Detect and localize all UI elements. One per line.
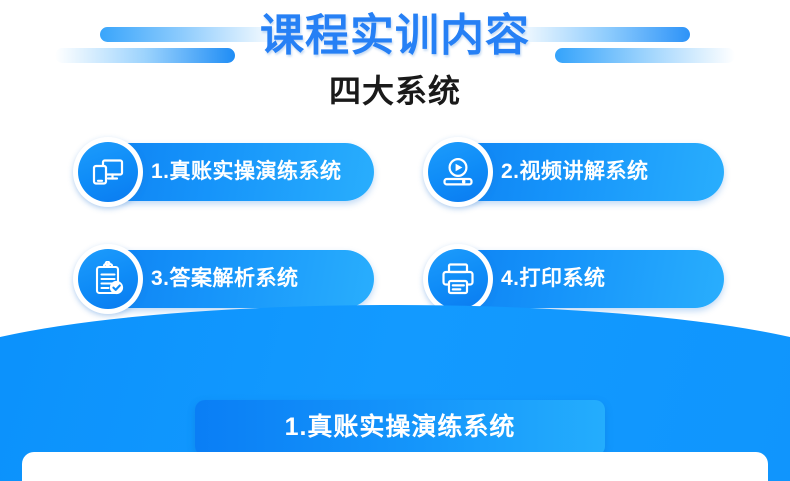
system-pill-3[interactable]: 3.答案解析系统 [78,250,374,308]
section-banner-label: 1.真账实操演练系统 [195,400,605,456]
system-pill-1[interactable]: 1.真账实操演练系统 [78,143,374,201]
system-pill-1-label: 1.真账实操演练系统 [151,143,342,201]
content-card [22,452,768,481]
system-pill-4-icon-frame [423,244,493,314]
system-pill-3-icon-frame [73,244,143,314]
page-subtitle: 四大系统 [0,72,790,110]
system-pill-4-label: 4.打印系统 [501,250,606,308]
system-pill-1-icon-frame [73,137,143,207]
system-pill-2-label: 2.视频讲解系统 [501,143,649,201]
clipboard-check-icon [78,249,138,309]
printer-icon [428,249,488,309]
system-pill-3-label: 3.答案解析系统 [151,250,299,308]
promo-page: 课程实训内容 四大系统 1.真账实操演练系统 [0,0,790,481]
video-play-icon [428,142,488,202]
page-title: 课程实训内容 [0,10,790,63]
system-pill-2-icon-frame [423,137,493,207]
system-pill-2[interactable]: 2.视频讲解系统 [428,143,724,201]
devices-monitor-tablet-icon [78,142,138,202]
system-pill-4[interactable]: 4.打印系统 [428,250,724,308]
header: 课程实训内容 四大系统 [0,0,790,125]
section-banner[interactable]: 1.真账实操演练系统 [195,400,605,456]
